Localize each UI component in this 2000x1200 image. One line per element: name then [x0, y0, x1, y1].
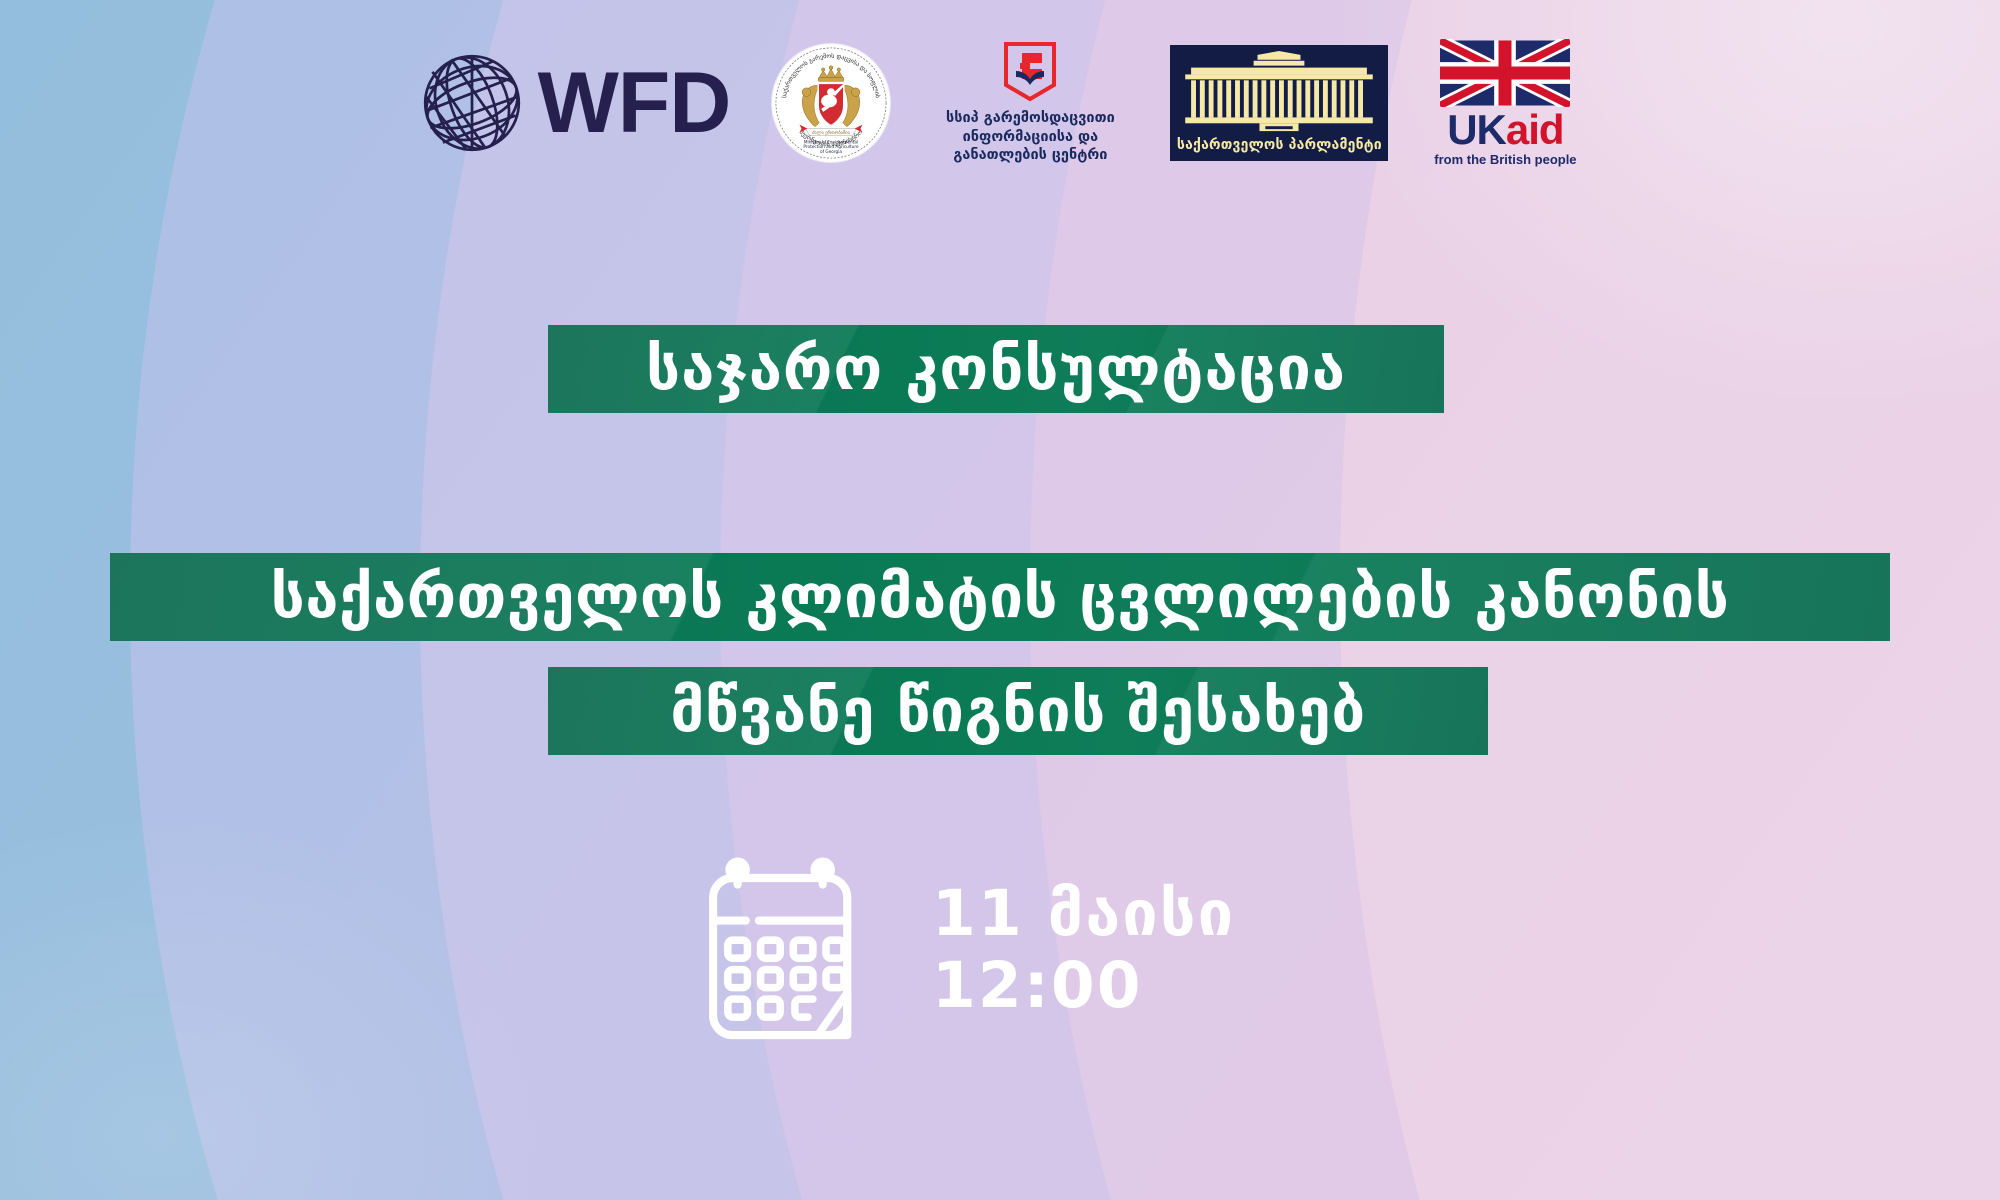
- ukaid-aid-text: aid: [1506, 106, 1564, 153]
- svg-text:of Georgia: of Georgia: [820, 149, 842, 154]
- event-type-banner: საჯარო კონსულტაცია: [548, 325, 1444, 413]
- environmental-info-center-mark: [1002, 41, 1058, 105]
- event-subject-banner-line2: მწვანე წიგნის შესახებ: [548, 667, 1488, 755]
- event-subject-banner-line1: საქართველოს კლიმატის ცვლილების კანონის: [110, 553, 1890, 641]
- ukaid-tagline: from the British people: [1434, 152, 1576, 167]
- ukaid-uk-text: UK: [1447, 106, 1506, 153]
- ukaid-wordmark: UKaid: [1447, 109, 1563, 151]
- logo-ukaid: UKaid from the British people: [1430, 39, 1580, 167]
- event-type-text: საჯარო კონსულტაცია: [646, 334, 1346, 404]
- calendar-icon: [700, 855, 880, 1045]
- event-datetime-text: 11 მაისი 12:00: [932, 881, 1235, 1019]
- parliament-label: საქართველოს პარლამენტი: [1177, 137, 1382, 153]
- event-date: 11 მაისი: [932, 881, 1235, 947]
- globe-icon: [420, 51, 524, 155]
- event-subject-text-line2: მწვანე წიგნის შესახებ: [670, 676, 1365, 746]
- logo-parliament-of-georgia: საქართველოს პარლამენტი: [1170, 45, 1388, 161]
- event-datetime-block: 11 მაისი 12:00: [700, 855, 1235, 1045]
- eiec-line-2: ინფორმაციისა და: [946, 128, 1115, 147]
- logo-wfd: WFD: [420, 51, 731, 155]
- eiec-line-1: სსიპ გარემოსდაცვითი: [946, 109, 1115, 128]
- eiec-label: სსიპ გარემოსდაცვითი ინფორმაციისა და განა…: [946, 109, 1115, 165]
- event-subject-text-line1: საქართველოს კლიმატის ცვლილების კანონის: [271, 562, 1730, 632]
- wfd-wordmark: WFD: [538, 60, 731, 146]
- logo-environmental-info-center: სსიპ გარემოსდაცვითი ინფორმაციისა და განა…: [932, 41, 1128, 165]
- event-time: 12:00: [932, 953, 1235, 1019]
- svg-text:ძალა ერთობაშია: ძალა ერთობაშია: [812, 129, 851, 136]
- logo-strip: WFD საქართველოს გარემოს დაცვისა და სოფლი…: [0, 28, 2000, 178]
- background-glow-bottom-left: [0, 800, 580, 1200]
- parliament-building-icon: [1181, 51, 1377, 135]
- eiec-line-3: განათლების ცენტრი: [946, 146, 1115, 165]
- poster-canvas: WFD საქართველოს გარემოს დაცვისა და სოფლი…: [0, 0, 2000, 1200]
- georgia-coat-of-arms-seal: საქართველოს გარემოს დაცვისა და სოფლის მე…: [772, 44, 890, 162]
- union-jack-flag-icon: [1440, 39, 1570, 107]
